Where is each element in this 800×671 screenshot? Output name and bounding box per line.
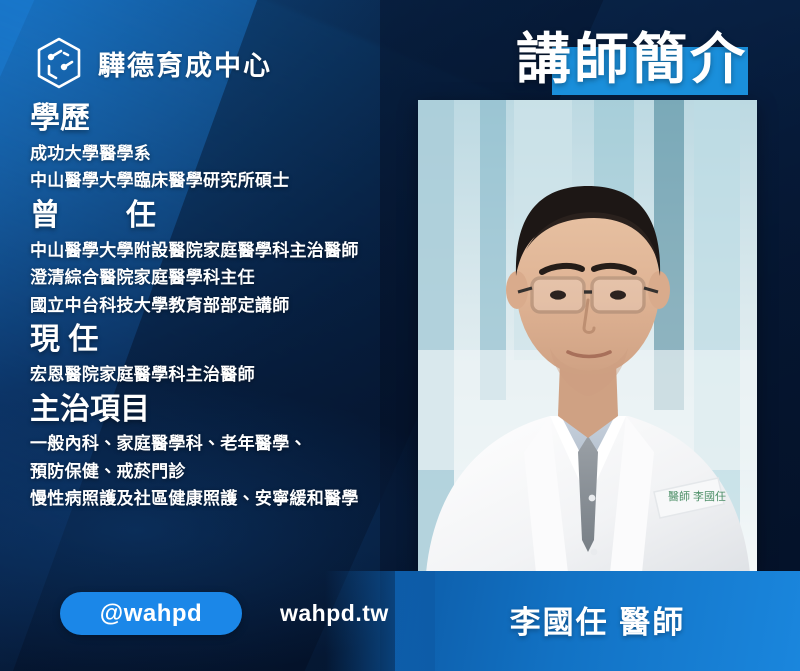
list-item: 一般內科、家庭醫學科、老年醫學、 [30,430,430,458]
brand-name: 驊德育成中心 [98,44,272,83]
website-link[interactable]: wahpd.tw [280,600,389,627]
section-lines: 宏恩醫院家庭醫學科主治醫師 [30,361,430,389]
section-heading: 主治項目 [30,391,430,429]
doctor-name-banner: 李國任 醫師 [395,571,800,671]
list-item: 預防保健、戒菸門診 [30,458,430,486]
doctor-name: 李國任 醫師 [395,597,800,642]
list-item: 中山醫學大學臨床醫學研究所碩士 [30,167,430,195]
section-lines: 一般內科、家庭醫學科、老年醫學、 預防保健、戒菸門診 慢性病照護及社區健康照護、… [30,430,430,513]
speaker-profile-poster: 驊德育成中心 講師簡介 學歷 成功大學醫學系 中山醫學大學臨床醫學研究所碩士 曾… [0,0,800,671]
section-education: 學歷 成功大學醫學系 中山醫學大學臨床醫學研究所碩士 [30,100,430,195]
section-current-position: 現 任 宏恩醫院家庭醫學科主治醫師 [30,321,430,388]
section-heading: 現 任 [30,321,430,359]
section-past-positions: 曾 任 中山醫學大學附設醫院家庭醫學科主治醫師 澄清綜合醫院家庭醫學科主任 國立… [30,197,430,319]
list-item: 澄清綜合醫院家庭醫學科主任 [30,264,430,292]
section-lines: 中山醫學大學附設醫院家庭醫學科主治醫師 澄清綜合醫院家庭醫學科主任 國立中台科技… [30,237,430,320]
section-lines: 成功大學醫學系 中山醫學大學臨床醫學研究所碩士 [30,140,430,195]
list-item: 中山醫學大學附設醫院家庭醫學科主治醫師 [30,237,430,265]
list-item: 成功大學醫學系 [30,140,430,168]
page-title: 講師簡介 [516,14,748,104]
list-item: 宏恩醫院家庭醫學科主治醫師 [30,361,430,389]
page-title-text: 講師簡介 [516,32,748,87]
list-item: 慢性病照護及社區健康照護、安寧緩和醫學 [30,485,430,513]
section-heading: 曾 任 [30,197,430,235]
social-handle-button[interactable]: @wahpd [60,592,242,635]
section-specialties: 主治項目 一般內科、家庭醫學科、老年醫學、 預防保健、戒菸門診 慢性病照護及社區… [30,391,430,513]
list-item: 國立中台科技大學教育部部定講師 [30,292,430,320]
speaker-portrait-photo: 醫師 李國任 [418,100,757,573]
brand-lockup: 驊德育成中心 [34,36,272,90]
section-heading: 學歷 [30,100,430,138]
profile-info-column: 學歷 成功大學醫學系 中山醫學大學臨床醫學研究所碩士 曾 任 中山醫學大學附設醫… [30,100,430,515]
svg-text:醫師 李國任: 醫師 李國任 [668,490,726,503]
cube-network-icon [34,36,84,90]
